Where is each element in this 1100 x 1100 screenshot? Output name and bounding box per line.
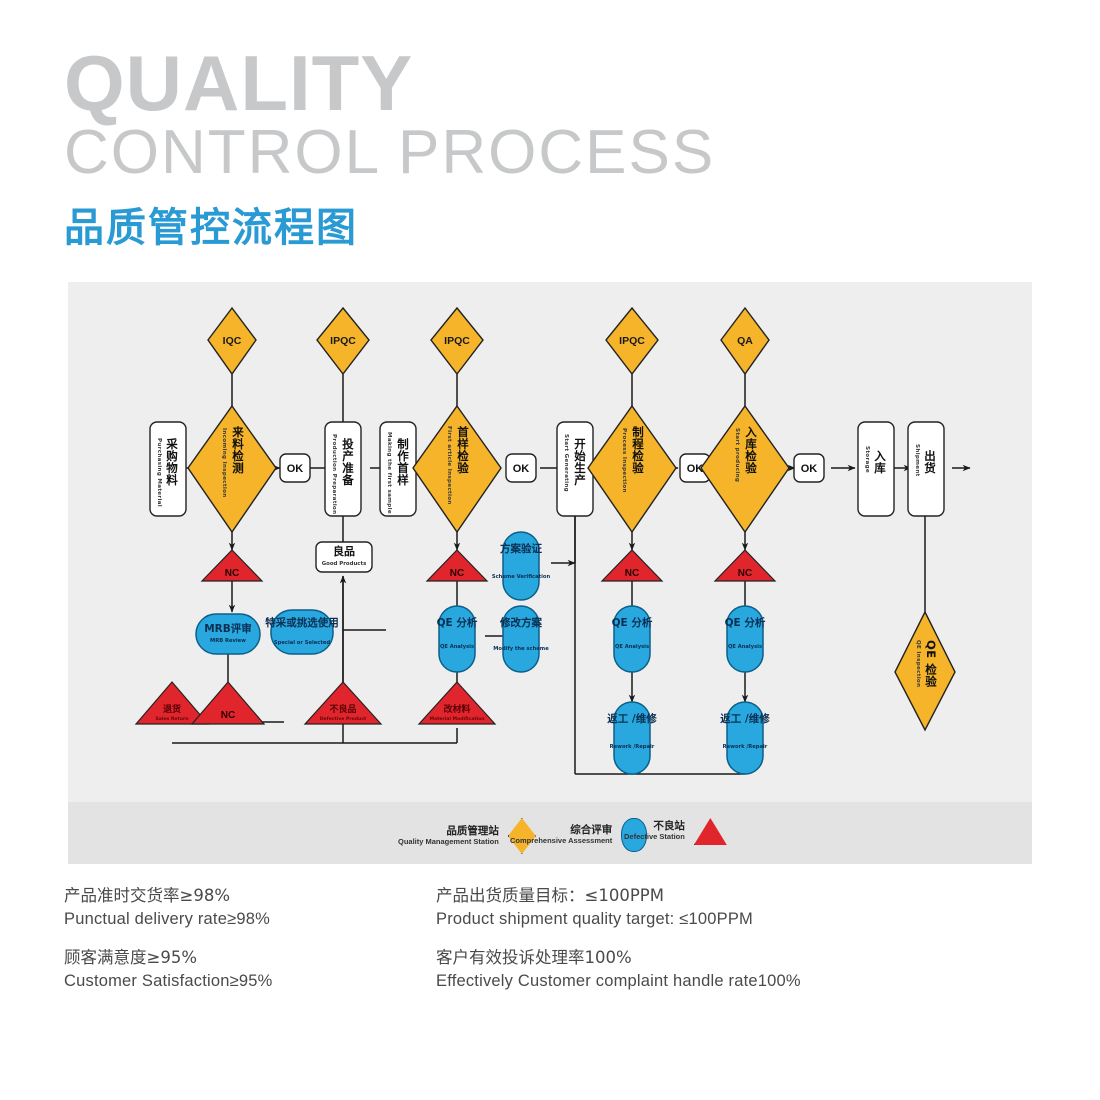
node-label-en: Material Modification <box>429 716 484 722</box>
legend-label-cn: 综合评审 <box>510 825 612 837</box>
node-label-cn: QE 分析 <box>437 616 478 629</box>
role-diamond-group: IQC IPQC IPQC IPQC QA <box>208 308 769 374</box>
node-label-cn: 返工 /维修 <box>607 712 657 725</box>
node-making-first-sample[interactable]: 制作首样 Making the first sample <box>380 422 416 516</box>
node-label-cn: 制程检验 <box>631 425 645 474</box>
node-mrb-review[interactable]: MRB评审 MRB Review <box>196 614 260 654</box>
node-label-cn: 采购物料 <box>165 437 179 486</box>
legend-item-defective-station: 不良站 Defective Station <box>624 818 727 845</box>
node-label-cn: 入库 <box>873 450 887 474</box>
node-label-cn: 来料检测 <box>231 425 245 474</box>
role-diamond-ipqc-1[interactable]: IPQC <box>317 308 369 374</box>
kpi-delivery: 产品准时交货率≥98% Punctual delivery rate≥98% <box>64 884 270 932</box>
role-diamond-ipqc-2[interactable]: IPQC <box>431 308 483 374</box>
node-rework-repair-warehouse[interactable]: 返工 /维修 Rework /Repair <box>720 702 770 774</box>
defect-group: 退货 Sales Return NC 不良品 Defective Product… <box>136 682 495 724</box>
nc-label: NC <box>738 568 752 579</box>
legend-label-en: Defective Station <box>624 833 685 841</box>
legend-label-en: Quality Management Station <box>398 838 499 846</box>
node-label-en: Rework /Repair <box>723 744 768 750</box>
node-label-en: QE Analysis <box>728 644 762 650</box>
node-incoming-inspection[interactable]: 来料检测 Incoming Inspection <box>188 406 276 532</box>
legend-label-en: Comprehensive Assessment <box>510 837 612 845</box>
node-label-cn: 出货 <box>923 449 937 474</box>
node-qe-analysis-process[interactable]: QE 分析 QE Analysis <box>612 606 653 672</box>
kpi-label-cn: 顾客满意度≥95% <box>64 946 272 970</box>
kpi-ppm: 产品出货质量目标：≤100PPM Product shipment qualit… <box>436 884 753 932</box>
node-label-cn: 修改方案 <box>499 616 542 629</box>
node-qe-analysis-first[interactable]: QE 分析 QE Analysis <box>437 606 478 672</box>
legend-label-cn: 品质管理站 <box>398 826 499 838</box>
role-label: QA <box>737 335 753 347</box>
ok-label: OK <box>287 463 304 475</box>
ok-label: OK <box>687 463 704 475</box>
node-modify-the-scheme[interactable]: 修改方案 Modify the scheme <box>493 606 549 672</box>
node-label-cn: MRB评审 <box>204 622 252 635</box>
node-label-cn: QE 分析 <box>612 616 653 629</box>
role-diamond-qa[interactable]: QA <box>721 308 769 374</box>
node-label-en: Process Inspection <box>621 428 627 493</box>
node-label-en: Scheme Verification <box>492 574 551 580</box>
node-label-en: QE Analysis <box>615 644 649 650</box>
node-label-en: Modify the scheme <box>493 646 549 652</box>
node-defective-product[interactable]: 不良品 Defective Product <box>305 682 381 724</box>
node-label-en: Production Preparation <box>331 434 337 514</box>
node-ok-4[interactable]: OK <box>794 454 824 482</box>
node-label-cn: 方案验证 <box>500 542 542 555</box>
page-header: QUALITY CONTROL PROCESS 品质管控流程图 <box>64 48 715 253</box>
node-scheme-verification[interactable]: 方案验证 Scheme Verification <box>492 532 551 600</box>
kpi-label-cn: 产品准时交货率≥98% <box>64 884 270 908</box>
node-warehouse-inspection[interactable]: 入库检验 Start producing <box>701 406 789 532</box>
role-label: IPQC <box>619 335 645 347</box>
node-label-cn: 开始生产 <box>573 438 587 486</box>
role-diamond-ipqc-3[interactable]: IPQC <box>606 308 658 374</box>
node-label-en: Start producing <box>734 428 740 482</box>
nc-group: NC NC NC NC <box>202 550 775 581</box>
kpi-label-en: Product shipment quality target: ≤100PPM <box>436 908 753 932</box>
role-diamond-iqc[interactable]: IQC <box>208 308 256 374</box>
node-label-en: Shipment <box>914 444 920 477</box>
node-storage[interactable]: 入库 Storage <box>858 422 894 516</box>
node-label-cn: 入库检验 <box>744 426 758 474</box>
node-label-en: Good Products <box>322 561 367 567</box>
node-shipment[interactable]: 出货 Shipment <box>908 422 944 516</box>
node-label-en: First article Inspection <box>446 426 452 505</box>
node-nc-bottom[interactable]: NC <box>192 682 264 724</box>
kpi-label-en: Customer Satisfaction≥95% <box>64 970 272 994</box>
page-root: QUALITY CONTROL PROCESS 品质管控流程图 <box>0 0 1100 1100</box>
node-label-en: QE Inspection <box>915 640 921 687</box>
role-label: IPQC <box>444 335 470 347</box>
node-rework-repair-process[interactable]: 返工 /维修 Rework /Repair <box>607 702 657 774</box>
node-nc-warehouse[interactable]: NC <box>715 550 775 581</box>
node-label-cn: QE 分析 <box>725 616 766 629</box>
title-line-quality: QUALITY <box>64 48 715 120</box>
node-ok-1[interactable]: OK <box>280 454 310 482</box>
nc-label: NC <box>225 568 239 579</box>
ok-label: OK <box>801 463 818 475</box>
flowchart-canvas: IQC IPQC IPQC IPQC QA 采购物料 <box>68 282 1032 802</box>
node-qe-inspection[interactable]: QE 检验 QE Inspection <box>895 612 955 730</box>
node-label-cn-1: 特采或挑选使用 <box>265 616 339 629</box>
node-purchasing-material[interactable]: 采购物料 Purchasing Material <box>150 422 186 516</box>
role-label: IPQC <box>330 335 356 347</box>
node-label-en: Sales Return <box>155 716 188 722</box>
node-label-en: MRB Review <box>210 638 246 644</box>
node-qe-analysis-warehouse[interactable]: QE 分析 QE Analysis <box>725 606 766 672</box>
node-nc-first-article[interactable]: NC <box>427 550 487 581</box>
node-material-modification[interactable]: 改材料 Material Modification <box>419 682 495 724</box>
node-process-inspection[interactable]: 制程检验 Process Inspection <box>588 406 676 532</box>
node-nc-process[interactable]: NC <box>602 550 662 581</box>
node-special-or-selected[interactable]: 特采或挑选使用 Special or Selected <box>265 610 339 654</box>
node-label-cn: 首样检验 <box>456 425 470 474</box>
node-label-en: Incoming Inspection <box>221 428 227 498</box>
role-label: IQC <box>223 335 242 347</box>
node-label-cn: 制作首样 <box>396 437 410 486</box>
kpi-label-cn: 产品出货质量目标：≤100PPM <box>436 884 753 908</box>
kpi-label-en: Punctual delivery rate≥98% <box>64 908 270 932</box>
node-first-article-inspection[interactable]: 首样检验 First article Inspection <box>413 406 501 532</box>
defective-station-triangle-icon <box>694 818 727 845</box>
node-label-en: Rework /Repair <box>610 744 655 750</box>
node-label-cn: 不良品 <box>329 703 356 715</box>
ok-label: OK <box>513 463 530 475</box>
node-label-en: Storage <box>864 446 870 473</box>
node-label-cn: 投产准备 <box>341 437 355 486</box>
title-line-control-process: CONTROL PROCESS <box>64 120 715 185</box>
node-ok-2[interactable]: OK <box>506 454 536 482</box>
nc-label: NC <box>625 568 639 579</box>
node-label-cn: 改材料 <box>443 703 470 715</box>
kpi-label-en: Effectively Customer complaint handle ra… <box>436 970 801 994</box>
node-label-cn: QE 检验 <box>924 640 938 687</box>
node-label-en: QE Analysis <box>440 644 474 650</box>
node-label-en: Making the first sample <box>386 432 392 514</box>
node-nc-incoming[interactable]: NC <box>202 550 262 581</box>
kpi-complaint: 客户有效投诉处理率100% Effectively Customer compl… <box>436 946 801 994</box>
node-label-cn: 返工 /维修 <box>720 712 770 725</box>
main-flow-group: 采购物料 Purchasing Material 来料检测 Incoming I… <box>150 406 944 532</box>
assessment-group: MRB评审 MRB Review 特采或挑选使用 Special or Sele… <box>196 532 770 774</box>
node-good-products[interactable]: 良品 Good Products <box>316 542 372 572</box>
node-label-en: Special or Selected <box>274 640 330 646</box>
nc-label: NC <box>221 710 235 721</box>
kpi-label-cn: 客户有效投诉处理率100% <box>436 946 801 970</box>
nc-label: NC <box>450 568 464 579</box>
kpi-satisfaction: 顾客满意度≥95% Customer Satisfaction≥95% <box>64 946 272 994</box>
node-start-generating[interactable]: 开始生产 Start Generating <box>557 422 593 516</box>
node-production-preparation[interactable]: 投产准备 Production Preparation <box>325 422 361 516</box>
node-label-cn: 退货 <box>163 703 181 715</box>
node-label-en: Purchasing Material <box>156 438 162 507</box>
node-label-en: Start Generating <box>563 434 569 492</box>
node-label-cn: 良品 <box>333 544 355 558</box>
node-label-en: Defective Product <box>320 716 367 722</box>
title-line-chinese: 品质管控流程图 <box>64 195 715 253</box>
